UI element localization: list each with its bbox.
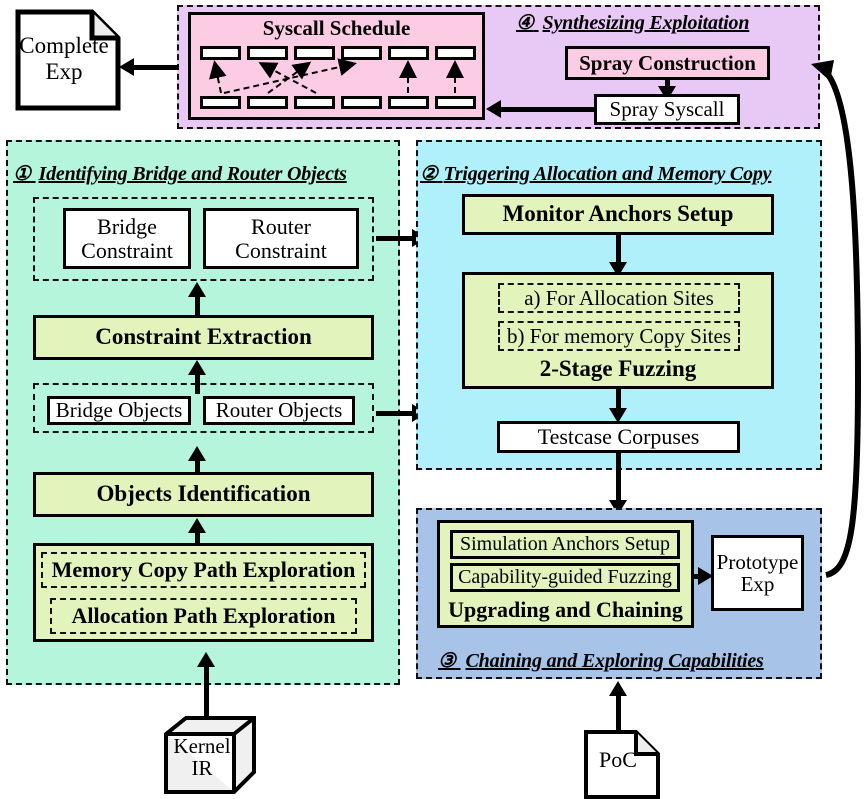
- fuzzing-stage-a[interactable]: a) For Allocation Sites: [498, 283, 740, 313]
- stage3-title: Chaining and Exploring Capabilities: [466, 650, 764, 672]
- monitor-anchors-setup-box[interactable]: Monitor Anchors Setup: [462, 194, 774, 235]
- stage2-title: Triggering Allocation and Memory Copy: [444, 163, 772, 185]
- arrowhead-exploration-to-identification: [188, 518, 206, 533]
- arrow-corpuses-to-stage3: [616, 453, 621, 505]
- complete-exp-label-line2: Exp: [14, 60, 114, 84]
- bridge-constraint-box[interactable]: Bridge Constraint: [63, 208, 191, 269]
- router-objects-box[interactable]: Router Objects: [203, 396, 355, 425]
- stage3-number: ③: [438, 650, 456, 672]
- complete-exp-label-line1: Complete: [14, 34, 114, 58]
- capability-guided-fuzzing-box[interactable]: Capability-guided Fuzzing: [450, 563, 680, 592]
- arrow-poc-to-stage3: [616, 693, 621, 733]
- stage2-number: ②: [420, 163, 438, 185]
- arrowhead-spray-syscall-to-schedule: [486, 100, 501, 118]
- arrow-stage4-to-complete-exp: [133, 65, 179, 70]
- stage3-title-row: ③ Chaining and Exploring Capabilities: [438, 648, 764, 673]
- arrowhead-objects-to-extraction: [188, 360, 206, 375]
- router-constraint-box[interactable]: Router Constraint: [203, 208, 359, 269]
- arrowhead-extraction-to-constraints: [188, 282, 206, 297]
- kernel-ir-label-line2: IR: [166, 757, 238, 779]
- two-stage-fuzzing-label: 2-Stage Fuzzing: [462, 355, 774, 383]
- memory-copy-path-exploration[interactable]: Memory Copy Path Exploration: [41, 552, 366, 588]
- bridge-objects-box[interactable]: Bridge Objects: [47, 396, 191, 425]
- stage1-number: ①: [13, 163, 31, 185]
- simulation-anchors-setup-box[interactable]: Simulation Anchors Setup: [450, 530, 680, 559]
- stage4-number: ④: [516, 12, 534, 34]
- arrowhead-kernel-ir-to-exploration: [197, 652, 215, 667]
- bridge-constraint-line2: Constraint: [81, 239, 173, 262]
- router-constraint-line2: Constraint: [235, 239, 327, 262]
- router-constraint-line1: Router: [251, 215, 311, 238]
- arrow-kernel-ir-to-exploration: [204, 664, 209, 720]
- spray-syscall-box[interactable]: Spray Syscall: [594, 94, 740, 125]
- arrow-spray-syscall-to-schedule: [500, 107, 596, 112]
- arrow-constraints-to-stage2: [376, 236, 414, 241]
- arrowhead-identification-to-objects: [188, 446, 206, 461]
- testcase-corpuses-box[interactable]: Testcase Corpuses: [497, 421, 740, 453]
- stage1-title: Identifying Bridge and Router Objects: [39, 163, 347, 185]
- constraint-extraction-box[interactable]: Constraint Extraction: [33, 315, 374, 360]
- stage4-title-row: ④ Synthesizing Exploitation: [516, 10, 749, 35]
- prototype-exp-line2: Exp: [741, 573, 775, 595]
- fuzzing-stage-b[interactable]: b) For memory Copy Sites: [498, 321, 740, 351]
- stage1-title-row: ① Identifying Bridge and Router Objects: [13, 161, 347, 186]
- arrowhead-poc-to-stage3: [609, 681, 627, 696]
- feedback-arrow-prototype-to-stage4: [780, 50, 865, 610]
- upgrading-and-chaining-label: Upgrading and Chaining: [437, 596, 694, 624]
- spray-construction-box[interactable]: Spray Construction: [565, 46, 770, 80]
- allocation-path-exploration[interactable]: Allocation Path Exploration: [50, 598, 357, 634]
- diagram-canvas: ④ Synthesizing Exploitation Syscall Sche…: [0, 0, 865, 799]
- syscall-mapping-arrows: [188, 40, 488, 110]
- arrow-objects-to-stage2: [376, 411, 414, 416]
- arrowhead-stage4-to-complete-exp: [119, 58, 134, 76]
- stage2-title-row: ② Triggering Allocation and Memory Copy: [420, 161, 771, 186]
- objects-identification-box[interactable]: Objects Identification: [33, 472, 374, 517]
- syscall-schedule-title: Syscall Schedule: [188, 16, 485, 40]
- kernel-ir-label-line1: Kernel: [166, 735, 238, 757]
- poc-label: PoC: [583, 748, 653, 772]
- stage4-title: Synthesizing Exploitation: [543, 12, 750, 34]
- bridge-constraint-line1: Bridge: [97, 215, 157, 238]
